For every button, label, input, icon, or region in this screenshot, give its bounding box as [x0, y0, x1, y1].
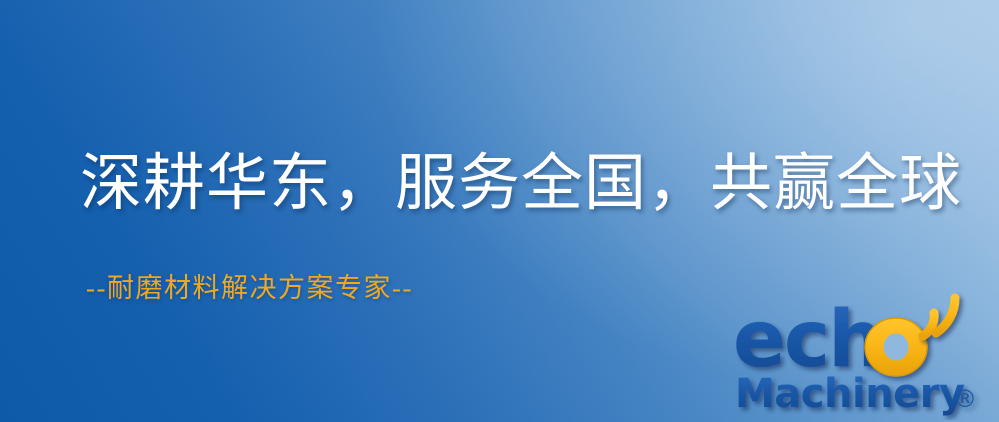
echo-machinery-logo[interactable]: ech Machinery ® — [731, 290, 989, 420]
banner-headline: 深耕华东，服务全国，共赢全球 — [80, 152, 962, 217]
banner-subheadline: --耐磨材料解决方案专家-- — [86, 266, 413, 305]
hero-banner: 深耕华东，服务全国，共赢全球 --耐磨材料解决方案专家-- — [0, 0, 999, 422]
signal-arc-outer — [936, 298, 955, 333]
logo-o-counter — [884, 334, 909, 361]
signal-waves-icon — [923, 298, 955, 336]
logo-wordmark-o — [865, 318, 927, 376]
logo-machinery-text: Machinery — [735, 371, 965, 417]
registered-trademark-icon: ® — [953, 385, 977, 413]
logo-wordmark-machinery: Machinery ® — [735, 371, 977, 417]
